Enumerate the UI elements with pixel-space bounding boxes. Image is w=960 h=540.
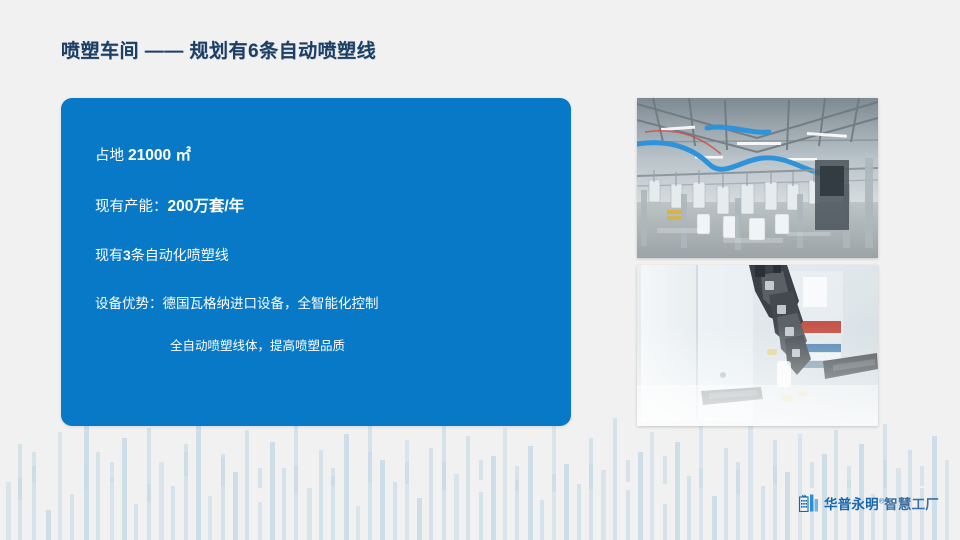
decor-bar-segment — [920, 466, 924, 486]
decor-bar — [638, 452, 643, 540]
vertical-bar-pattern — [0, 415, 960, 540]
existing-lines-label: 现有 — [95, 247, 123, 263]
existing-lines-tail: 条自动化喷塑线 — [131, 247, 229, 263]
decor-bar — [663, 504, 667, 540]
decor-bar — [368, 426, 372, 540]
decor-bar — [245, 430, 249, 540]
decor-bar — [258, 502, 262, 540]
decor-bar-segment — [736, 470, 740, 494]
decor-bar — [785, 472, 790, 540]
capacity-label: 现有产能： — [95, 199, 168, 215]
area-label: 占地 — [95, 148, 128, 164]
decor-bar — [58, 432, 62, 540]
info-line-capacity: 现有产能：200万套/年 — [95, 199, 553, 215]
decor-bar — [319, 450, 323, 540]
decor-bar — [798, 434, 802, 540]
decor-bar-segment — [479, 460, 483, 480]
decor-bar — [159, 462, 164, 540]
decor-bar — [405, 440, 409, 540]
decor-bar-segment — [663, 456, 667, 484]
existing-lines-count: 3 — [123, 247, 131, 263]
decor-bar — [564, 464, 569, 540]
info-line-existing-lines: 现有3条自动化喷塑线 — [95, 248, 553, 262]
decor-bar — [650, 432, 654, 540]
decor-bar — [748, 422, 753, 540]
decor-bar-segment — [699, 468, 703, 488]
decor-bar — [577, 484, 581, 540]
decor-bar — [96, 452, 100, 540]
decor-bar-segment — [515, 466, 519, 490]
info-panel-body: 占地 21000 ㎡ 现有产能：200万套/年 现有3条自动化喷塑线 设备优势：… — [95, 148, 553, 352]
decor-bar — [171, 486, 175, 540]
decor-bar — [503, 428, 507, 540]
decor-bar-segment — [773, 466, 777, 484]
decor-bar-segment — [258, 468, 262, 488]
decor-bar-segment — [368, 452, 372, 482]
decor-bar — [491, 456, 496, 540]
decor-bar-segment — [552, 474, 556, 492]
decor-bar — [932, 436, 937, 540]
decor-bar — [134, 504, 138, 540]
decor-bar — [429, 448, 433, 540]
decor-bar — [270, 442, 275, 540]
decor-bar — [417, 498, 422, 540]
decor-bar — [540, 500, 544, 540]
decor-bar-segment — [32, 452, 36, 482]
decor-bar — [613, 418, 617, 540]
equipment-text: 设备优势：德国瓦格纳进口设备，全智能化控制 — [95, 296, 379, 311]
decor-bar-segment — [18, 478, 22, 500]
decor-bar — [761, 486, 765, 540]
decor-bar — [282, 468, 286, 540]
decor-bar — [233, 472, 238, 540]
brand-logo: 华普永明®智慧工厂 — [799, 492, 939, 514]
info-line-equipment: 设备优势：德国瓦格纳进口设备，全智能化控制 — [95, 297, 553, 311]
decor-bar — [6, 482, 11, 540]
decor-bar-segment — [442, 462, 446, 490]
decor-bar-segment — [589, 464, 593, 490]
brand-name: 华普永明 — [824, 497, 879, 512]
decor-bar — [834, 430, 838, 540]
quality-text: 全自动喷塑线体，提高喷塑品质 — [170, 339, 345, 353]
info-line-quality: 全自动喷塑线体，提高喷塑品质 — [95, 340, 553, 353]
decor-bar — [208, 496, 212, 540]
decor-bar — [110, 478, 114, 540]
photo-workshop-overview-image — [637, 98, 878, 258]
decor-bar — [454, 474, 459, 540]
decor-bar — [945, 460, 949, 540]
decor-bar — [122, 438, 127, 540]
decor-bar — [307, 488, 312, 540]
decor-bar — [70, 494, 74, 540]
photo-spray-line-closeup — [637, 265, 878, 426]
decor-bar — [675, 442, 680, 540]
decor-bar — [773, 440, 777, 540]
decor-bar-segment — [810, 462, 814, 488]
capacity-value: 200万套/年 — [168, 198, 245, 215]
decor-bar-segment — [184, 452, 188, 476]
decor-bar — [46, 510, 51, 540]
brand-suffix: 智慧工厂 — [884, 497, 939, 512]
decor-bar-segment — [221, 458, 225, 486]
decor-bar — [626, 490, 630, 540]
decor-bar-segment — [147, 484, 151, 502]
decor-bar — [479, 492, 483, 540]
info-line-area: 占地 21000 ㎡ — [95, 148, 553, 164]
factory-building-icon — [799, 494, 819, 512]
decor-bar-segment — [110, 462, 114, 482]
decor-bar — [356, 506, 360, 540]
info-panel: 占地 21000 ㎡ 现有产能：200万套/年 现有3条自动化喷塑线 设备优势：… — [61, 98, 571, 426]
decor-bar — [601, 470, 606, 540]
decor-bar-segment — [626, 460, 630, 482]
decor-bar — [196, 416, 201, 540]
decor-bar-segment — [84, 464, 88, 490]
page-title: 喷塑车间 —— 规划有6条自动喷塑线 — [61, 36, 376, 63]
decor-bar-segment — [405, 462, 409, 484]
decor-bar — [712, 496, 717, 540]
brand-logo-text: 华普永明®智慧工厂 — [824, 493, 939, 513]
decor-bar — [466, 436, 470, 540]
decor-bar-segment — [847, 466, 851, 488]
area-value: 21000 ㎡ — [128, 147, 191, 164]
photo-workshop-overview — [637, 98, 878, 258]
decor-bar — [393, 482, 397, 540]
decor-bar — [528, 446, 533, 540]
decor-bar — [380, 460, 385, 540]
decor-bar-segment — [883, 460, 887, 488]
decor-bar — [724, 448, 728, 540]
decor-bar-segment — [294, 466, 298, 492]
photo-spray-line-closeup-image — [637, 265, 878, 426]
decor-bar — [344, 434, 349, 540]
decor-bar — [687, 476, 691, 540]
decor-bar-segment — [331, 468, 335, 486]
